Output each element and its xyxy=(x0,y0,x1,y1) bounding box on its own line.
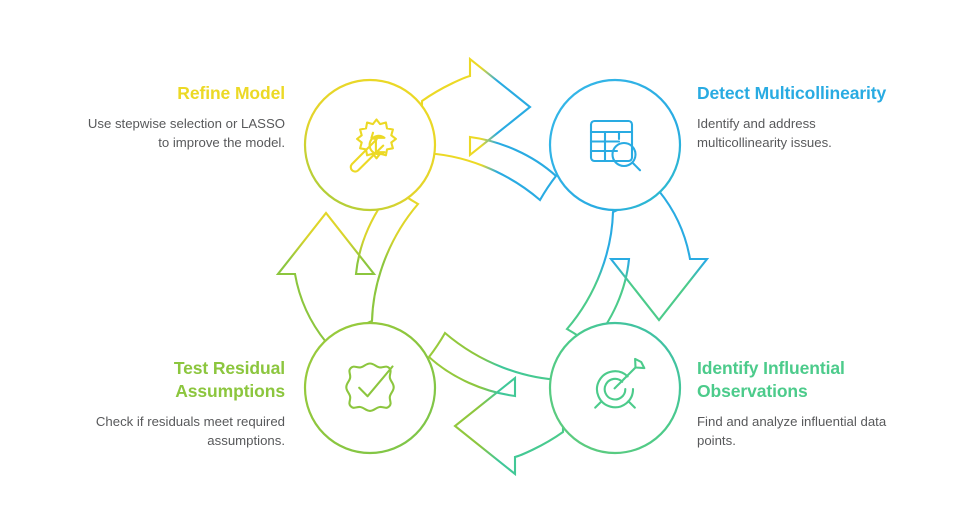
step-title-test-residual-assumptions: Test Residual Assumptions xyxy=(75,357,285,403)
step-description-detect-multicollinearity: Identify and address multicollinearity i… xyxy=(697,114,907,153)
arrow-test-to-refine xyxy=(278,188,418,342)
step-circle-detect-multicollinearity[interactable] xyxy=(550,80,680,210)
step-label-refine-model: Refine Model Use stepwise selection or L… xyxy=(75,82,285,153)
diagram-canvas: Refine Model Use stepwise selection or L… xyxy=(0,0,980,517)
step-title-detect-multicollinearity: Detect Multicollinearity xyxy=(697,82,907,105)
step-title-refine-model: Refine Model xyxy=(75,82,285,105)
step-description-identify-influential-observations: Find and analyze influential data points… xyxy=(697,412,907,451)
step-label-test-residual-assumptions: Test Residual Assumptions Check if resid… xyxy=(75,357,285,451)
arrow-detect-to-identify xyxy=(567,191,707,345)
step-label-identify-influential-observations: Identify Influential Observations Find a… xyxy=(697,357,907,451)
step-description-refine-model: Use stepwise selection or LASSO to impro… xyxy=(75,114,285,153)
step-title-identify-influential-observations: Identify Influential Observations xyxy=(697,357,907,403)
arrow-identify-to-test xyxy=(429,333,563,474)
step-circle-test-residual-assumptions[interactable] xyxy=(305,323,435,453)
step-label-detect-multicollinearity: Detect Multicollinearity Identify and ad… xyxy=(697,82,907,153)
arrow-refine-to-detect xyxy=(422,59,556,200)
step-description-test-residual-assumptions: Check if residuals meet required assumpt… xyxy=(75,412,285,451)
